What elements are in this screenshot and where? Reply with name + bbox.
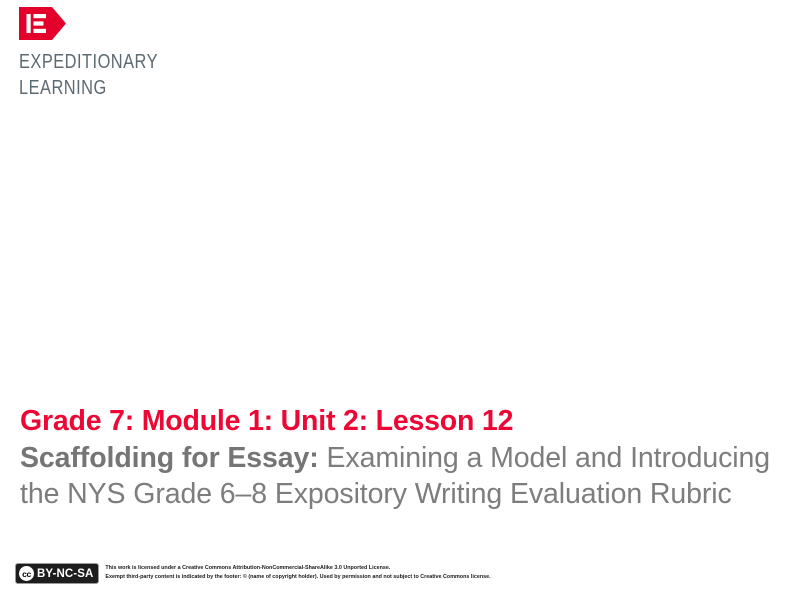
lesson-subtitle-lead: Scaffolding for Essay:	[20, 442, 319, 474]
lesson-subtitle: Scaffolding for Essay: Examining a Model…	[20, 440, 780, 513]
license-badge-label: BY-NC-SA	[37, 568, 93, 580]
creative-commons-icon: cc	[19, 566, 34, 581]
license-line-1: This work is licensed under a Creative C…	[105, 564, 490, 573]
el-pennant-logo-icon	[19, 7, 66, 40]
brand-wordmark: EXPEDITIONARY LEARNING	[19, 49, 259, 101]
brand-logo-block: EXPEDITIONARY LEARNING	[19, 7, 319, 101]
creative-commons-badge[interactable]: cc BY-NC-SA	[15, 563, 99, 584]
title-block: Grade 7: Module 1: Unit 2: Lesson 12 Sca…	[20, 404, 780, 513]
license-footer: cc BY-NC-SA This work is licensed under …	[15, 563, 491, 584]
lesson-heading: Grade 7: Module 1: Unit 2: Lesson 12	[20, 404, 780, 440]
license-line-2: Exempt third-party content is indicated …	[105, 573, 490, 582]
lesson-title-slide: EXPEDITIONARY LEARNING Grade 7: Module 1…	[0, 0, 811, 602]
license-text: This work is licensed under a Creative C…	[105, 563, 490, 582]
